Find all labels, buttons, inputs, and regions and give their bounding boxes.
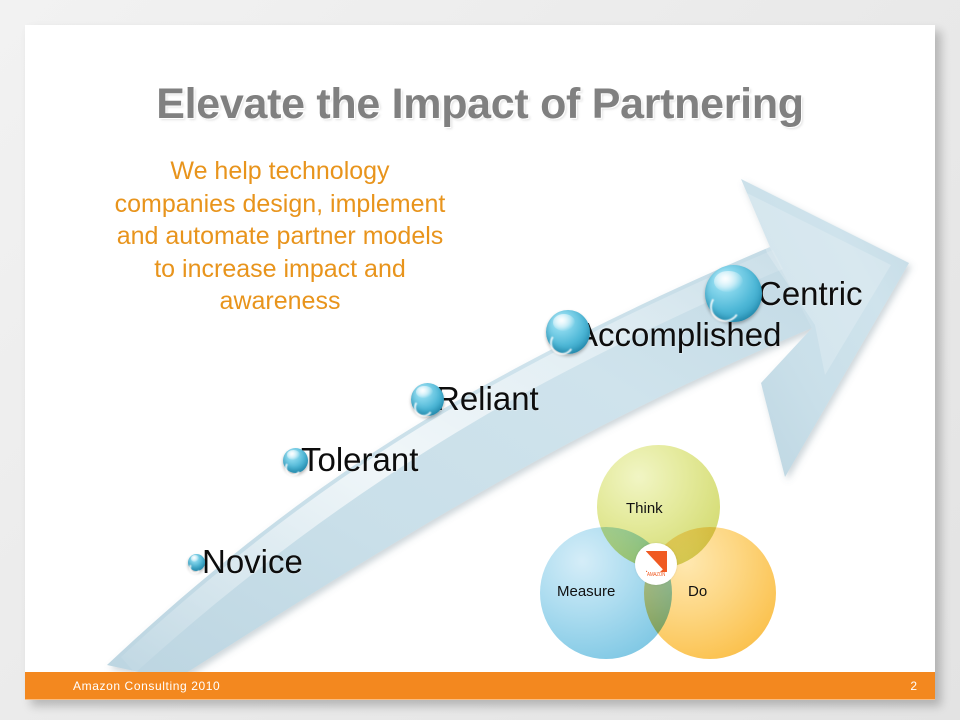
stage-label: Centric	[758, 275, 863, 313]
stage-bead-icon	[705, 265, 762, 322]
think-measure-do-venn-diagram: Think Measure Do AMAZON	[540, 445, 775, 660]
stage-label: Reliant	[436, 380, 539, 418]
stage-bead-icon	[546, 310, 590, 354]
stage-novice: Novice	[188, 543, 303, 581]
stage-reliant: Reliant	[411, 380, 539, 418]
stage-bead-icon	[411, 383, 444, 416]
stage-bead-icon	[188, 554, 205, 571]
footer-copyright: Amazon Consulting 2010	[73, 679, 220, 693]
blurb-line-5: awareness	[80, 285, 480, 318]
slide-page: Elevate the Impact of Partnering We help…	[25, 25, 935, 700]
slide-footer: Amazon Consulting 2010 2	[25, 672, 935, 700]
logo-mark	[646, 551, 667, 572]
page-title: Elevate the Impact of Partnering	[25, 80, 935, 129]
venn-label-do: Do	[688, 583, 707, 600]
blurb-line-2: companies design, implement	[80, 188, 480, 221]
amazon-consulting-logo-icon: AMAZON	[635, 543, 677, 585]
stage-tolerant: Tolerant	[283, 441, 418, 479]
venn-label-think: Think	[626, 500, 663, 517]
slide-page-number: 2	[910, 679, 917, 693]
stage-centric: Centric	[705, 265, 863, 322]
logo-caption: AMAZON	[647, 573, 665, 578]
blurb-line-1: We help technology	[80, 155, 480, 188]
blurb-line-3: and automate partner models	[80, 220, 480, 253]
value-proposition-text: We help technology companies design, imp…	[80, 155, 480, 318]
presentation-canvas: Elevate the Impact of Partnering We help…	[0, 0, 960, 720]
stage-label: Novice	[202, 543, 303, 581]
stage-bead-icon	[283, 448, 308, 473]
venn-label-measure: Measure	[557, 583, 615, 600]
blurb-line-4: to increase impact and	[80, 253, 480, 286]
stage-label: Tolerant	[301, 441, 418, 479]
